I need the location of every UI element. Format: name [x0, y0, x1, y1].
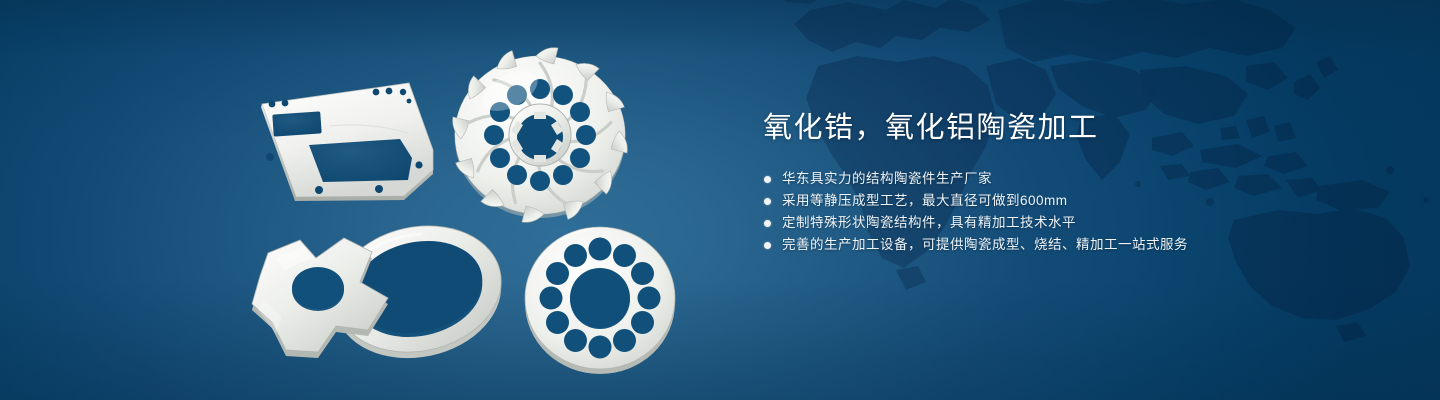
ceramic-valve-plate [525, 227, 675, 374]
feature-list: 华东具实力的结构陶瓷件生产厂家 采用等静压成型工艺，最大直径可做到600mm 定… [763, 168, 1383, 256]
bullet-dot-icon [764, 198, 771, 205]
ceramic-machined-plate [261, 83, 433, 201]
list-item-label: 完善的生产加工设备，可提供陶瓷成型、烧结、精加工一站式服务 [782, 234, 1188, 256]
list-item-label: 采用等静压成型工艺，最大直径可做到600mm [782, 190, 1068, 212]
banner-copy: 氧化锆，氧化铝陶瓷加工 华东具实力的结构陶瓷件生产厂家 采用等静压成型工艺，最大… [763, 108, 1383, 256]
list-item-label: 定制特殊形状陶瓷结构件，具有精加工技术水平 [782, 212, 1076, 234]
list-item: 采用等静压成型工艺，最大直径可做到600mm [763, 190, 1383, 212]
list-item: 定制特殊形状陶瓷结构件，具有精加工技术水平 [763, 212, 1383, 234]
bullet-dot-icon [764, 176, 771, 183]
ceramic-impeller-rotor [453, 48, 628, 223]
product-photo-group [0, 0, 720, 400]
list-item: 完善的生产加工设备，可提供陶瓷成型、烧结、精加工一站式服务 [763, 234, 1383, 256]
bullet-dot-icon [764, 220, 771, 227]
list-item-label: 华东具实力的结构陶瓷件生产厂家 [782, 168, 992, 190]
bullet-dot-icon [764, 242, 771, 249]
promo-banner: 氧化锆，氧化铝陶瓷加工 华东具实力的结构陶瓷件生产厂家 采用等静压成型工艺，最大… [0, 0, 1440, 400]
page-title: 氧化锆，氧化铝陶瓷加工 [763, 108, 1383, 148]
list-item: 华东具实力的结构陶瓷件生产厂家 [763, 168, 1383, 190]
